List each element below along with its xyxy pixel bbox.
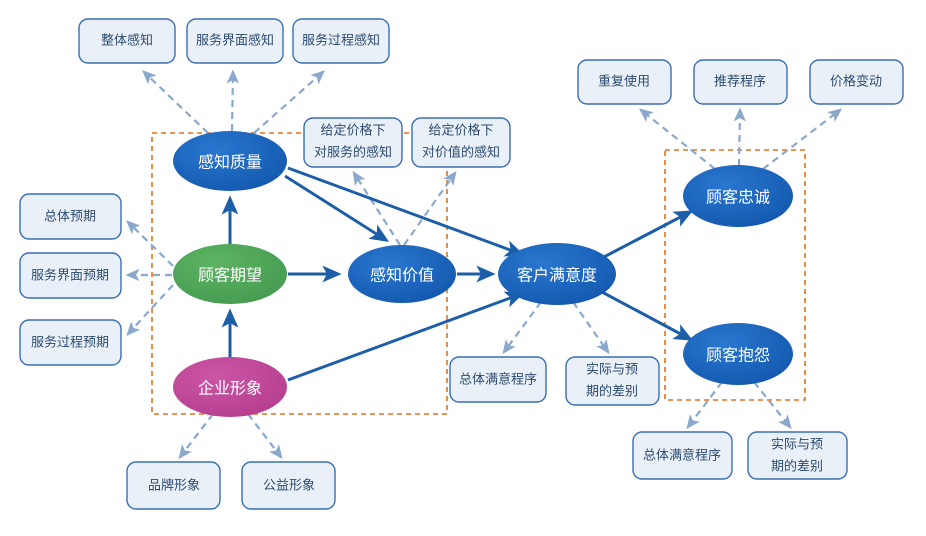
node-corporate-image[interactable]: 企业形象 [173,357,287,417]
indicator-box-gap-expectation-right[interactable]: 实际与预 期的差别 [748,432,847,479]
indicator-label: 总体满意程序 [643,448,721,464]
indicator-label-line1: 给定价格下 [320,123,385,139]
indicator-label: 推荐程序 [714,75,766,90]
node-customer-expectation[interactable]: 顾客期望 [173,244,287,304]
node-customer-loyalty[interactable]: 顾客忠诚 [683,165,793,227]
node-label: 顾客期望 [198,266,262,285]
indicator-label: 服务过程感知 [302,33,380,49]
dashed-arrow-expectation-to-process-expectation [128,285,173,334]
indicator-label-line2: 对价值的感知 [422,145,500,161]
dashed-arrow-loyalty-to-repeat-use [641,110,715,169]
indicator-label-line1: 实际与预 [771,438,823,453]
indicator-label: 总体满意程序 [459,372,537,388]
indicator-box-referral-program[interactable]: 推荐程序 [694,60,787,104]
indicator-box-satisfaction-degree-right[interactable]: 总体满意程序 [633,432,732,479]
indicator-label: 服务界面感知 [196,33,274,49]
indicator-box-service-interface-expectation[interactable]: 服务界面预期 [20,253,121,298]
node-label: 企业形象 [198,379,262,398]
dashed-arrow-quality-to-interface-perception [232,72,233,131]
diagram-canvas: 整体感知 服务界面感知 服务过程感知 重复使用 推荐程序 价格变动 给定价格下 … [0,0,926,536]
node-label: 顾客忠诚 [706,188,770,207]
indicator-label: 品牌形象 [148,478,200,494]
node-label: 感知价值 [370,266,434,285]
dashed-arrow-loyalty-to-price-change [763,110,840,169]
dashed-arrow-complaint-to-gap [754,382,790,427]
indicator-label-line2: 期的差别 [771,459,823,475]
dashed-arrow-loyalty-to-referral [739,110,740,166]
indicator-label: 整体感知 [101,33,153,49]
solid-arrow-satisfaction-to-loyalty [602,212,690,258]
indicator-box-public-welfare-image[interactable]: 公益形象 [242,462,335,509]
dashed-arrow-image-to-welfare-image [248,414,281,457]
indicator-box-service-process-perception[interactable]: 服务过程感知 [293,19,389,63]
node-customer-complaint[interactable]: 顾客抱怨 [683,323,793,385]
indicator-label-line1: 实际与预 [586,363,638,378]
dashed-arrow-expectation-to-overall-expectation [128,222,173,266]
dashed-arrow-satisfaction-to-satisfaction-degree [504,302,541,352]
indicator-box-repeat-use[interactable]: 重复使用 [578,60,671,104]
node-perceived-quality[interactable]: 感知质量 [173,131,287,191]
indicator-label-line2: 对服务的感知 [314,145,392,161]
solid-arrow-quality-to-satisfaction [288,168,521,254]
indicator-label: 服务界面预期 [31,268,109,284]
indicator-box-satisfaction-degree-center[interactable]: 总体满意程序 [450,357,546,402]
dashed-arrow-complaint-to-satisfaction-degree [688,382,722,427]
indicator-label: 重复使用 [598,74,650,90]
indicator-label-line2: 期的差别 [586,384,638,400]
indicator-label: 服务过程预期 [31,335,109,351]
dashed-arrow-satisfaction-to-gap [573,302,608,352]
node-label: 客户满意度 [517,266,597,285]
node-customer-satisfaction[interactable]: 客户满意度 [498,243,616,305]
dashed-arrow-image-to-brand-image [180,414,213,457]
indicator-box-price-change[interactable]: 价格变动 [810,60,903,104]
diagram-svg: 整体感知 服务界面感知 服务过程感知 重复使用 推荐程序 价格变动 给定价格下 … [0,0,926,536]
dashed-arrow-quality-to-overall-perception [144,72,208,133]
indicator-box-service-process-expectation[interactable]: 服务过程预期 [20,320,121,365]
indicator-box-brand-image[interactable]: 品牌形象 [127,462,220,509]
indicator-label: 公益形象 [263,479,315,494]
indicator-box-value-perception-at-price[interactable]: 给定价格下 对价值的感知 [412,118,510,167]
node-label: 感知质量 [198,153,262,172]
indicator-box-service-interface-perception[interactable]: 服务界面感知 [187,19,283,63]
indicator-label-line1: 给定价格下 [428,123,493,139]
indicator-box-service-perception-at-price[interactable]: 给定价格下 对服务的感知 [304,118,402,167]
indicator-box-overall-expectation[interactable]: 总体预期 [20,194,121,239]
node-label: 顾客抱怨 [706,346,770,365]
solid-arrow-satisfaction-to-complaint [602,292,690,339]
indicator-box-gap-expectation-center[interactable]: 实际与预 期的差别 [566,357,659,405]
indicator-label: 总体预期 [44,210,96,225]
indicator-box-overall-perception[interactable]: 整体感知 [79,19,175,63]
node-perceived-value[interactable]: 感知价值 [348,245,456,303]
indicator-label: 价格变动 [830,74,882,90]
